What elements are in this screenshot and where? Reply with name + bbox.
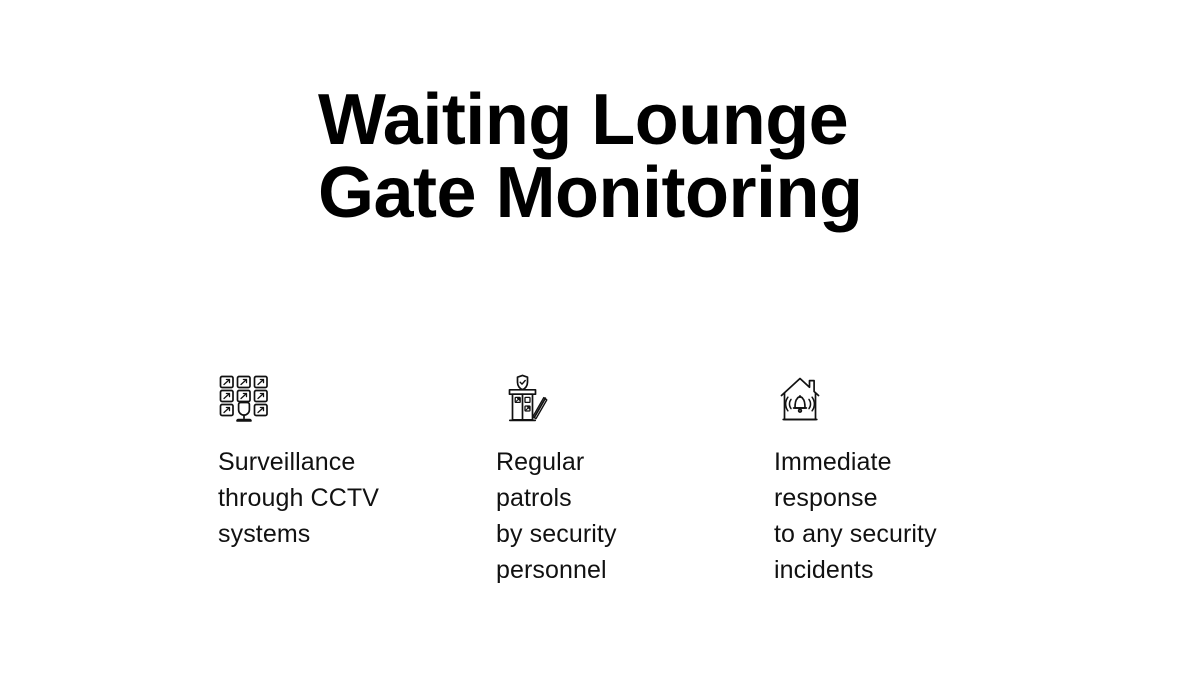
security-guard-booth-icon xyxy=(496,374,548,422)
feature-column-response: Immediate response to any security incid… xyxy=(774,374,1052,588)
house-alarm-bell-icon xyxy=(774,374,826,422)
feature-columns: Surveillance through CCTV systems xyxy=(218,374,1058,588)
feature-text-line: Immediate xyxy=(774,444,937,480)
feature-text-line: through CCTV xyxy=(218,480,379,516)
page-title-line-2: Gate Monitoring xyxy=(318,157,1038,230)
feature-text-patrols: Regular patrols by security personnel xyxy=(496,444,617,588)
feature-text-line: by security xyxy=(496,516,617,552)
feature-text-line: Surveillance xyxy=(218,444,379,480)
feature-text-line: response xyxy=(774,480,937,516)
feature-text-line: incidents xyxy=(774,552,937,588)
feature-text-line: personnel xyxy=(496,552,617,588)
feature-column-surveillance: Surveillance through CCTV systems xyxy=(218,374,496,552)
feature-text-surveillance: Surveillance through CCTV systems xyxy=(218,444,379,552)
page-title: Waiting Lounge Gate Monitoring xyxy=(318,84,1038,230)
feature-text-line: patrols xyxy=(496,480,617,516)
page-title-line-1: Waiting Lounge xyxy=(318,84,1038,157)
feature-text-line: to any security xyxy=(774,516,937,552)
feature-text-line: Regular xyxy=(496,444,617,480)
slide-canvas: Waiting Lounge Gate Monitoring xyxy=(0,0,1200,675)
feature-text-response: Immediate response to any security incid… xyxy=(774,444,937,588)
feature-text-line: systems xyxy=(218,516,379,552)
cctv-monitor-wall-icon xyxy=(218,374,270,422)
feature-column-patrols: Regular patrols by security personnel xyxy=(496,374,774,588)
